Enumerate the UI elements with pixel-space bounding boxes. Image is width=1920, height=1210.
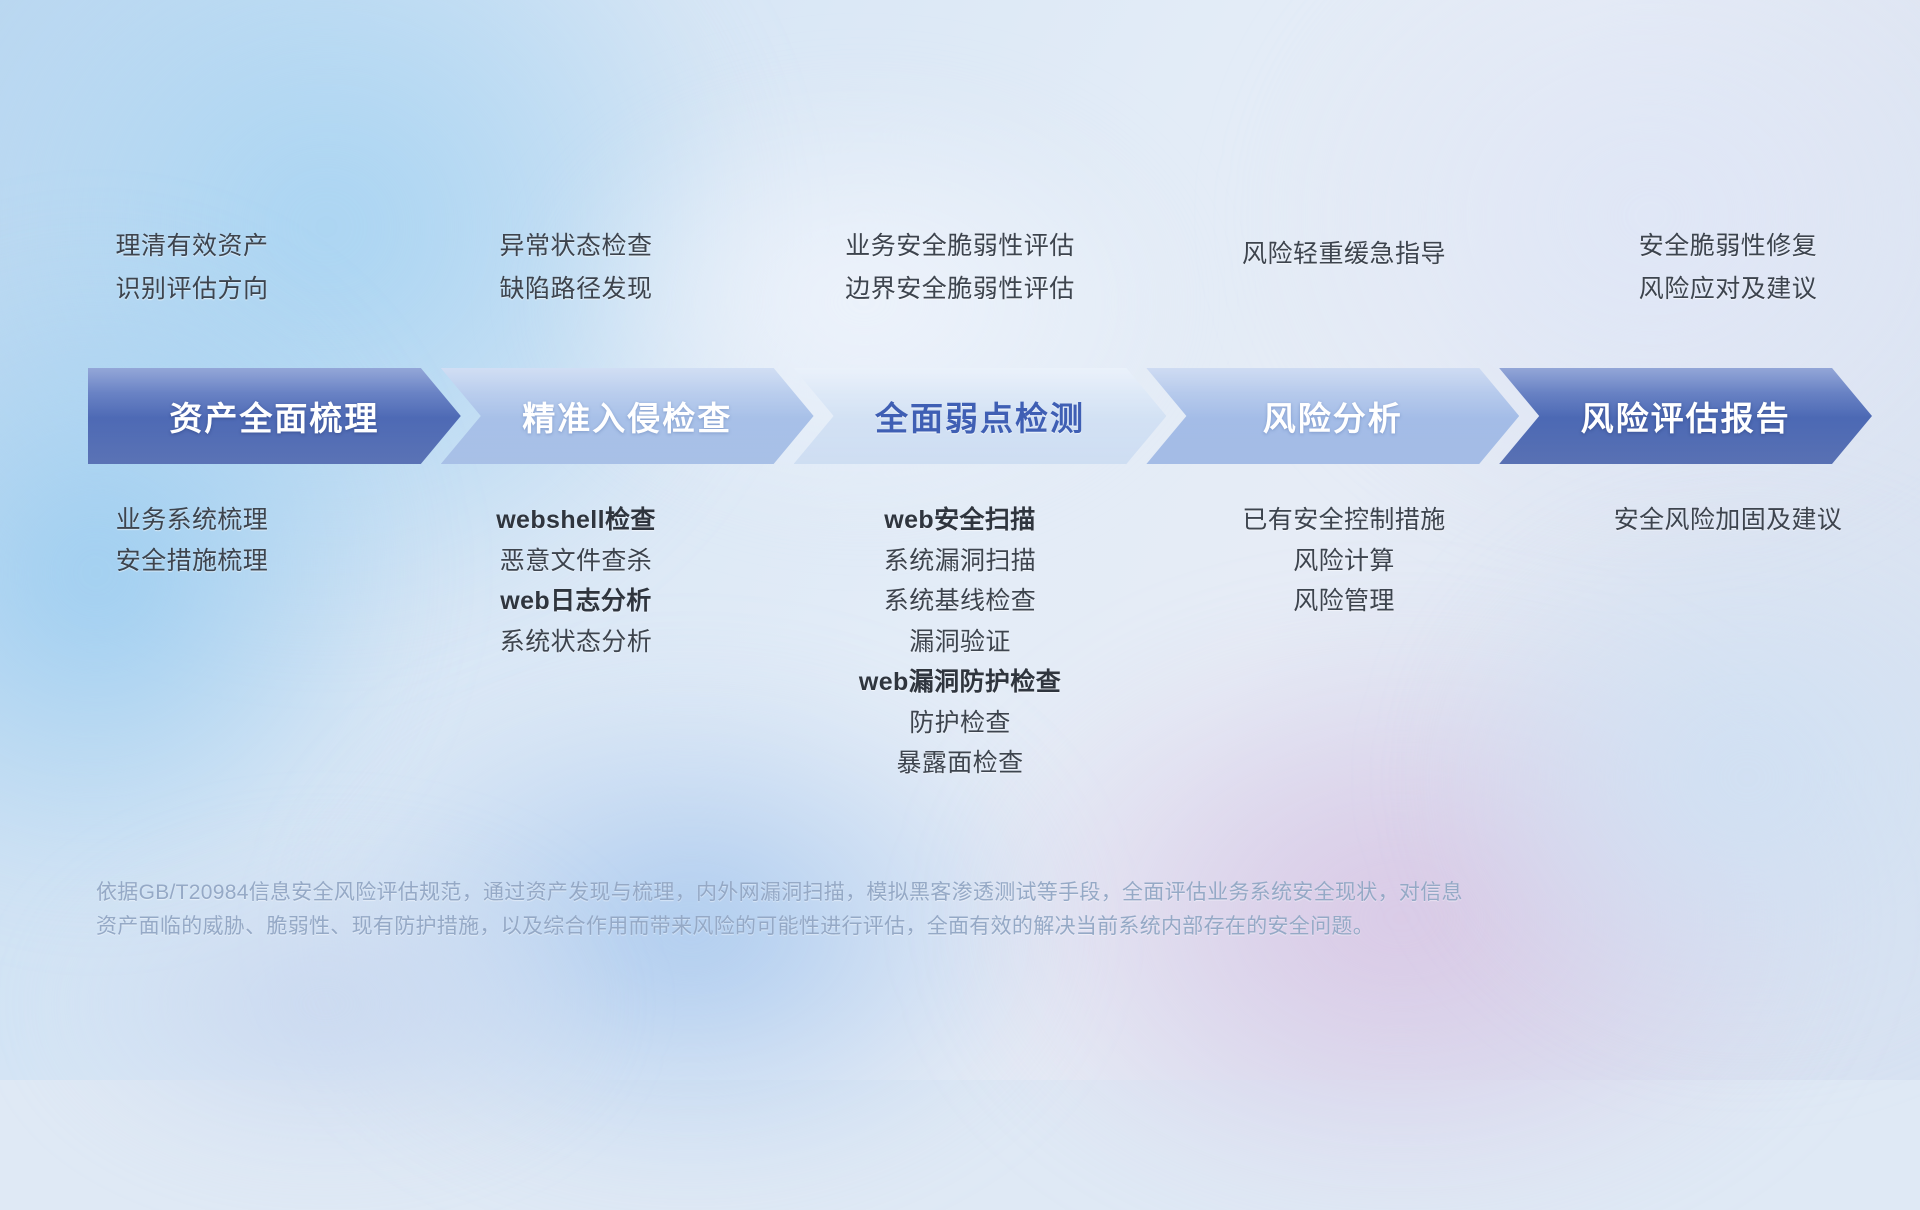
stage-label: 精准入侵检查 [522, 392, 732, 440]
bottom-item: 恶意文件查杀 [384, 541, 768, 582]
bottom-item-group-5: 安全风险加固及建议 [1536, 500, 1920, 541]
top-caption: 边界安全脆弱性评估 [768, 268, 1152, 311]
bottom-item: 系统基线检查 [768, 581, 1152, 622]
stage-label: 风险分析 [1263, 392, 1403, 440]
bottom-item: web日志分析 [384, 581, 768, 622]
bottom-item: web安全扫描 [768, 500, 1152, 541]
stage-label: 风险评估报告 [1581, 392, 1791, 440]
stage-label: 全面弱点检测 [875, 392, 1085, 440]
stage-label: 资产全面梳理 [169, 392, 379, 440]
top-caption: 缺陷路径发现 [384, 268, 768, 311]
bottom-item: 系统漏洞扫描 [768, 541, 1152, 582]
stage-arrow-3[interactable]: 全面弱点检测 [794, 368, 1167, 464]
stage-arrow-band: 资产全面梳理精准入侵检查全面弱点检测风险分析风险评估报告 [88, 368, 1852, 464]
bottom-item: 漏洞验证 [768, 622, 1152, 663]
bottom-item: 已有安全控制措施 [1152, 500, 1536, 541]
top-caption: 业务安全脆弱性评估 [768, 225, 1152, 268]
top-caption-group-3: 业务安全脆弱性评估边界安全脆弱性评估 [768, 225, 1152, 311]
stage-arrow-2[interactable]: 精准入侵检查 [441, 368, 814, 464]
top-caption: 安全脆弱性修复 [1536, 225, 1920, 268]
bottom-item: 风险计算 [1152, 541, 1536, 582]
top-caption-group-1: 理清有效资产识别评估方向 [0, 225, 384, 311]
footer-description: 依据GB/T20984信息安全风险评估规范，通过资产发现与梳理，内外网漏洞扫描，… [96, 876, 1824, 944]
bottom-item: 风险管理 [1152, 581, 1536, 622]
bottom-item-group-1: 业务系统梳理安全措施梳理 [0, 500, 384, 581]
bottom-item: 防护检查 [768, 703, 1152, 744]
top-caption: 风险轻重缓急指导 [1152, 233, 1536, 276]
bottom-item-group-2: webshell检查恶意文件查杀web日志分析系统状态分析 [384, 500, 768, 662]
stage-arrow-4[interactable]: 风险分析 [1146, 368, 1519, 464]
footer-line-2: 资产面临的威胁、脆弱性、现有防护措施，以及综合作用而带来风险的可能性进行评估，全… [96, 910, 1824, 944]
bottom-item: web漏洞防护检查 [768, 662, 1152, 703]
top-caption-group-2: 异常状态检查缺陷路径发现 [384, 225, 768, 311]
top-caption: 理清有效资产 [0, 225, 384, 268]
bottom-items-row: 业务系统梳理安全措施梳理webshell检查恶意文件查杀web日志分析系统状态分… [0, 500, 1920, 784]
top-caption-group-5: 安全脆弱性修复风险应对及建议 [1536, 225, 1920, 311]
top-caption: 风险应对及建议 [1536, 268, 1920, 311]
top-caption: 异常状态检查 [384, 225, 768, 268]
top-caption-group-4: 风险轻重缓急指导 [1152, 233, 1536, 311]
top-caption: 识别评估方向 [0, 268, 384, 311]
bottom-item: 业务系统梳理 [0, 500, 384, 541]
bottom-item: 系统状态分析 [384, 622, 768, 663]
process-diagram: 理清有效资产识别评估方向异常状态检查缺陷路径发现业务安全脆弱性评估边界安全脆弱性… [0, 0, 1920, 1080]
top-captions-row: 理清有效资产识别评估方向异常状态检查缺陷路径发现业务安全脆弱性评估边界安全脆弱性… [0, 225, 1920, 311]
bottom-item: 暴露面检查 [768, 743, 1152, 784]
footer-line-1: 依据GB/T20984信息安全风险评估规范，通过资产发现与梳理，内外网漏洞扫描，… [96, 876, 1824, 910]
bottom-item-group-4: 已有安全控制措施风险计算风险管理 [1152, 500, 1536, 622]
stage-arrow-5[interactable]: 风险评估报告 [1499, 368, 1872, 464]
bottom-item: 安全措施梳理 [0, 541, 384, 582]
bottom-item: webshell检查 [384, 500, 768, 541]
bottom-item: 安全风险加固及建议 [1536, 500, 1920, 541]
bottom-item-group-3: web安全扫描系统漏洞扫描系统基线检查漏洞验证web漏洞防护检查防护检查暴露面检… [768, 500, 1152, 784]
stage-arrow-1[interactable]: 资产全面梳理 [88, 368, 461, 464]
